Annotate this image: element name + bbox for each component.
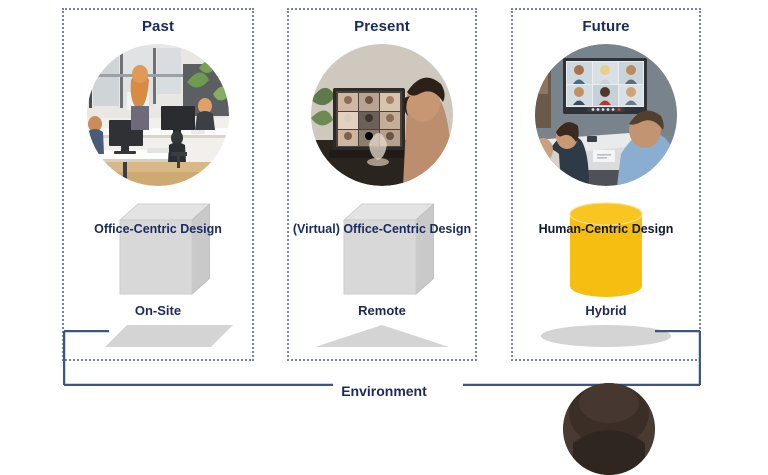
hybrid-meeting-room-photo bbox=[535, 44, 677, 186]
future-of-work-infographic: Past bbox=[0, 0, 768, 403]
column-future: Future bbox=[511, 8, 701, 361]
mode-label-past: On-Site bbox=[62, 303, 254, 319]
open-office-photo bbox=[87, 44, 229, 186]
person-portrait-photo bbox=[563, 383, 655, 475]
photo-wrap-present bbox=[311, 44, 453, 186]
column-title-future: Future bbox=[511, 18, 701, 36]
cube-shape-present bbox=[330, 202, 434, 298]
base-shape-past bbox=[62, 323, 254, 365]
cylinder-shape-future bbox=[554, 202, 658, 298]
mode-label-future: Hybrid bbox=[511, 303, 701, 319]
video-call-photo bbox=[311, 44, 453, 186]
shape-zone-present: (Virtual) Office-Centric Design bbox=[287, 196, 477, 301]
base-shape-present bbox=[287, 323, 477, 365]
mode-label-present: Remote bbox=[287, 303, 477, 319]
shape-zone-past: Office-Centric Design bbox=[62, 196, 254, 301]
base-shape-future bbox=[511, 323, 701, 365]
shape-zone-future: Human-Centric Design bbox=[511, 196, 701, 301]
photo-wrap-past bbox=[87, 44, 229, 186]
environment-label: Environment bbox=[0, 383, 768, 400]
column-title-present: Present bbox=[287, 18, 477, 36]
column-past: Past bbox=[62, 8, 254, 361]
column-title-past: Past bbox=[62, 18, 254, 36]
column-present: Present bbox=[287, 8, 477, 361]
photo-wrap-future bbox=[535, 44, 677, 186]
cube-shape-past bbox=[106, 202, 210, 298]
